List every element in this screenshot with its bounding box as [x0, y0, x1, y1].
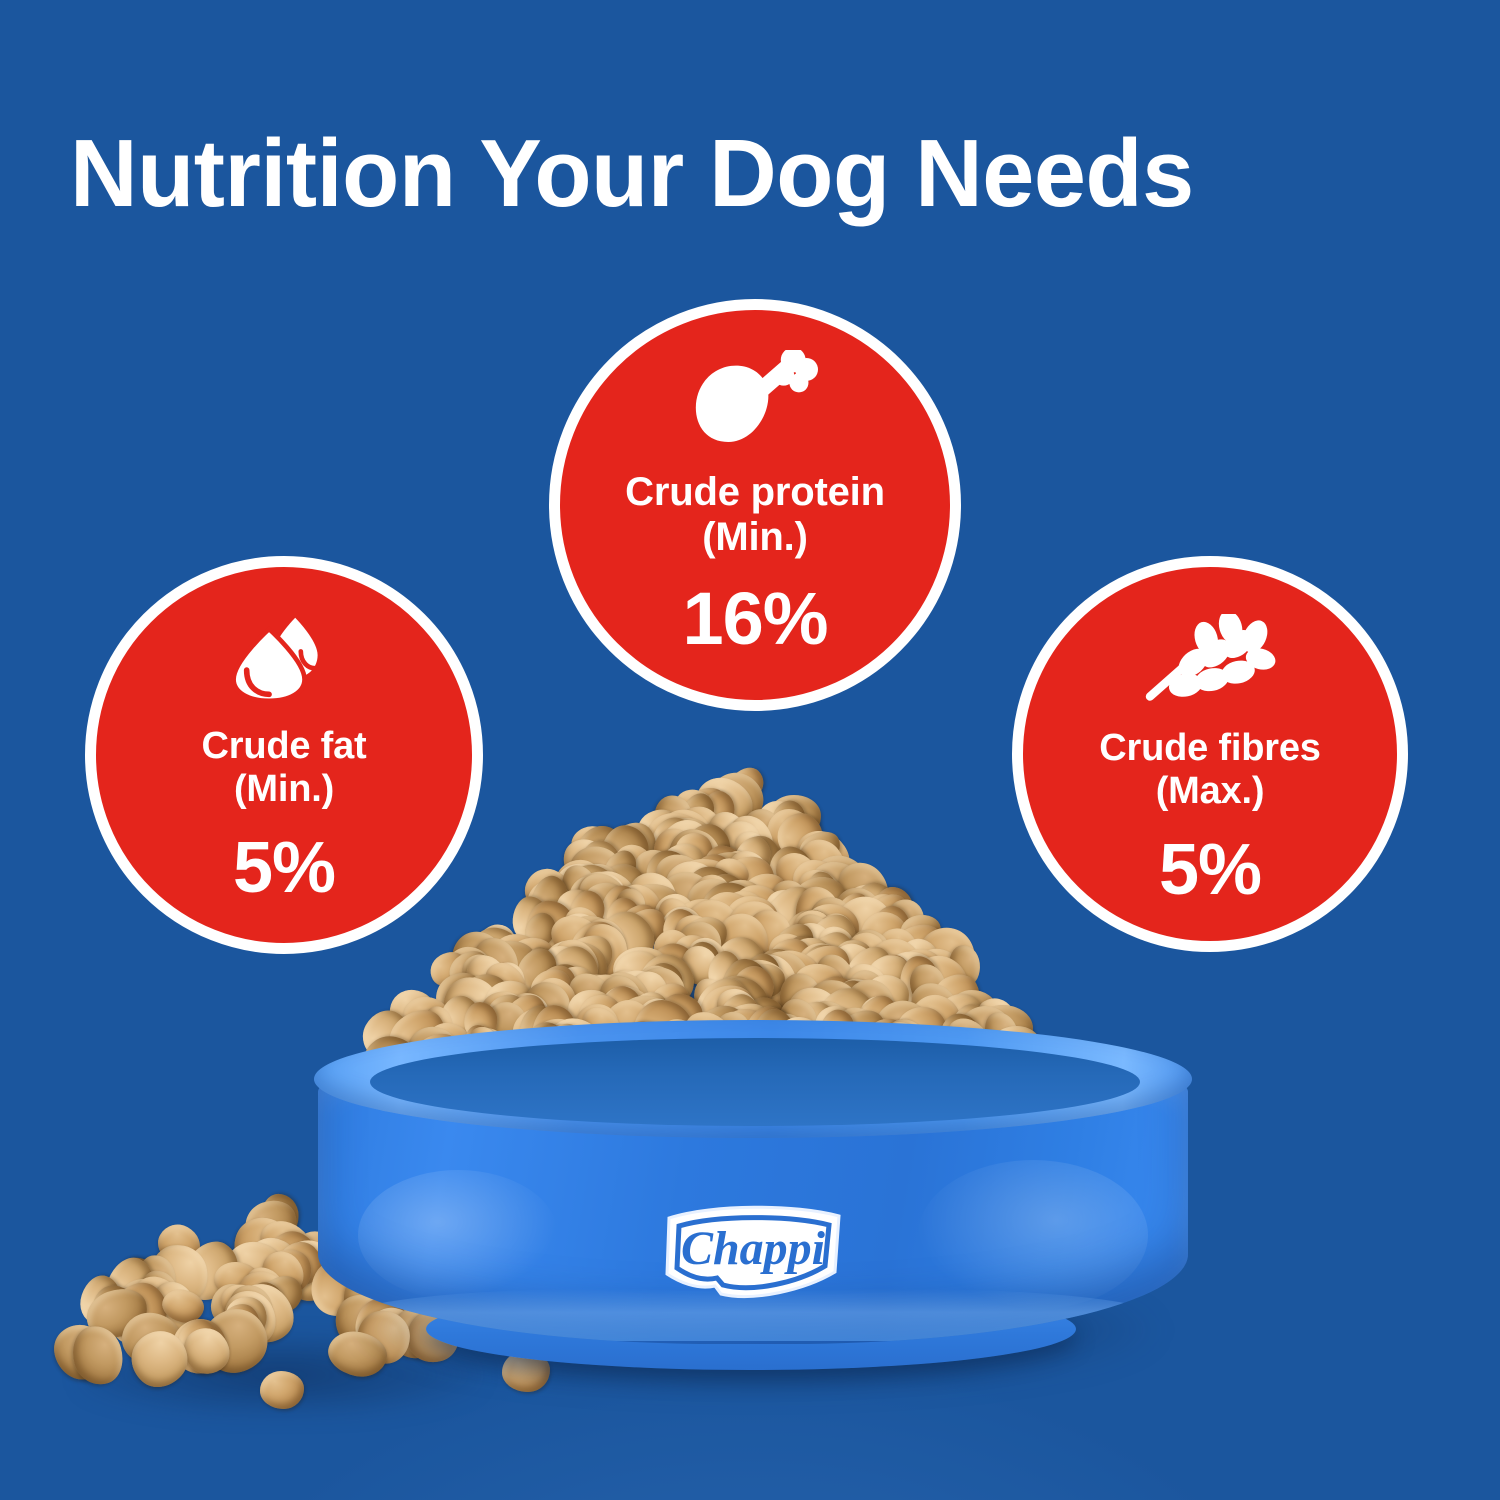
wheat-stalk-icon	[1023, 611, 1397, 707]
badge-label-line2: (Min.)	[234, 768, 334, 810]
chappi-logo: Chappi	[655, 1198, 851, 1302]
badge-label: Crude fibres (Max.)	[1099, 727, 1320, 812]
badge-label: Crude protein (Min.)	[625, 470, 885, 560]
badge-value: 16%	[682, 582, 827, 656]
badge-crude-protein[interactable]: Crude protein (Min.) 16%	[549, 299, 961, 711]
badge-label-line2: (Min.)	[702, 515, 807, 559]
water-drops-icon	[96, 607, 472, 707]
badge-label: Crude fat (Min.)	[202, 725, 367, 810]
poster-canvas: Nutrition Your Dog Needs Chappi	[0, 0, 1500, 1500]
badge-value: 5%	[233, 832, 335, 904]
badge-label-line1: Crude protein	[625, 470, 885, 514]
badge-label-line1: Crude fat	[202, 725, 367, 767]
bowl-highlight-right	[918, 1160, 1148, 1310]
badge-crude-fat[interactable]: Crude fat (Min.) 5%	[85, 556, 483, 954]
dog-bowl: Chappi	[318, 1020, 1188, 1365]
page-title: Nutrition Your Dog Needs	[70, 126, 1406, 222]
badge-label-line2: (Max.)	[1156, 770, 1265, 812]
badge-crude-fibres[interactable]: Crude fibres (Max.) 5%	[1012, 556, 1408, 952]
chappi-logo-text: Chappi	[681, 1222, 826, 1275]
kibble-piece	[260, 1371, 304, 1409]
chicken-drumstick-icon	[560, 346, 950, 454]
badge-label-line1: Crude fibres	[1099, 727, 1320, 769]
bowl-highlight-left	[358, 1170, 558, 1300]
bowl-interior	[370, 1038, 1140, 1126]
badge-value: 5%	[1159, 834, 1261, 906]
